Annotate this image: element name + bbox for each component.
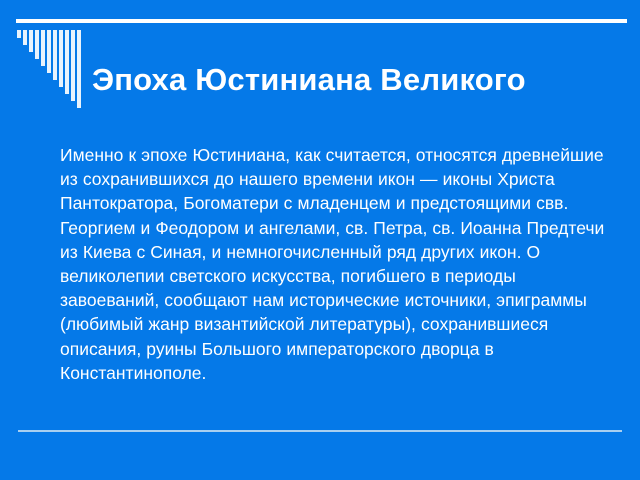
slide-canvas: Эпоха Юстиниана Великого Именно к эпохе …: [0, 0, 640, 480]
comb-bar-5: [41, 30, 45, 66]
comb-bar-8: [59, 30, 63, 87]
comb-bar-1: [17, 30, 21, 38]
body-paragraph: Именно к эпохе Юстиниана, как считается,…: [60, 143, 610, 385]
comb-bar-6: [47, 30, 51, 73]
bottom-divider: [18, 430, 622, 432]
top-accent-rule: [16, 19, 627, 23]
page-title: Эпоха Юстиниана Великого: [92, 60, 632, 100]
body-text-block: Именно к эпохе Юстиниана, как считается,…: [60, 143, 610, 385]
comb-bar-11: [77, 30, 81, 108]
comb-bars-decoration: [16, 30, 86, 108]
comb-bar-2: [23, 30, 27, 45]
comb-bar-7: [53, 30, 57, 80]
comb-bar-3: [29, 30, 33, 52]
comb-bar-9: [65, 30, 69, 94]
comb-bar-10: [71, 30, 75, 101]
comb-bar-4: [35, 30, 39, 59]
